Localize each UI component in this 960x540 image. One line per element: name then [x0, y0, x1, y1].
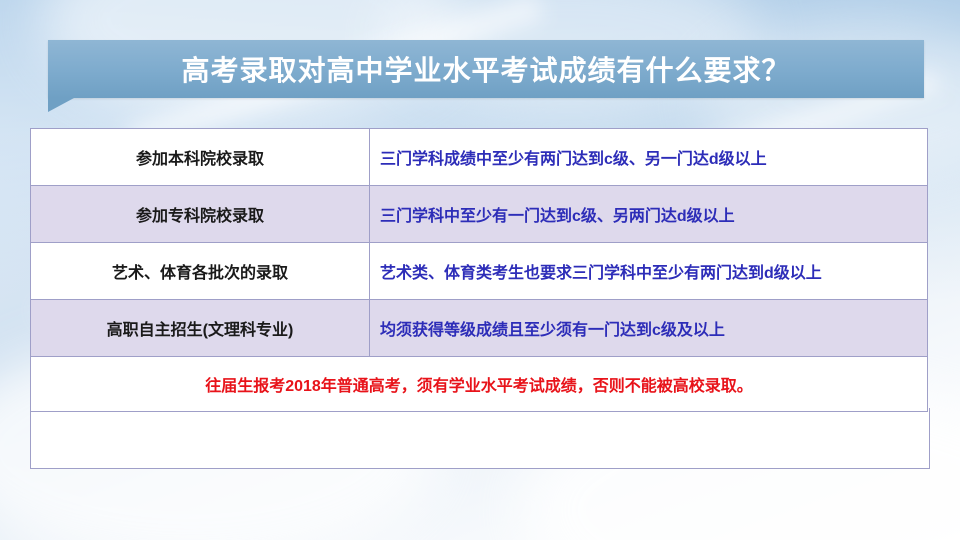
requirements-table: 参加本科院校录取 三门学科成绩中至少有两门达到c级、另一门达d级以上 参加专科院…: [30, 128, 928, 412]
row-requirement: 艺术类、体育类考生也要求三门学科中至少有两门达到d级以上: [370, 243, 928, 300]
slide-title: 高考录取对高中学业水平考试成绩有什么要求？: [48, 40, 924, 98]
table-row: 参加专科院校录取 三门学科中至少有一门达到c级、另两门达d级以上: [31, 186, 928, 243]
table-note-row: 往届生报考2018年普通高考，须有学业水平考试成绩，否则不能被高校录取。: [31, 357, 928, 412]
title-banner-tail: [48, 98, 74, 112]
table-row: 参加本科院校录取 三门学科成绩中至少有两门达到c级、另一门达d级以上: [31, 129, 928, 186]
table-row: 高职自主招生(文理科专业) 均须获得等级成绩且至少须有一门达到c级及以上: [31, 300, 928, 357]
table-row: 艺术、体育各批次的录取 艺术类、体育类考生也要求三门学科中至少有两门达到d级以上: [31, 243, 928, 300]
table-note: 往届生报考2018年普通高考，须有学业水平考试成绩，否则不能被高校录取。: [31, 357, 928, 412]
title-banner: 高考录取对高中学业水平考试成绩有什么要求？: [48, 40, 924, 98]
row-category: 参加专科院校录取: [31, 186, 370, 243]
row-category: 参加本科院校录取: [31, 129, 370, 186]
row-category: 高职自主招生(文理科专业): [31, 300, 370, 357]
slide-canvas: 高考录取对高中学业水平考试成绩有什么要求？ 参加本科院校录取 三门学科成绩中至少…: [0, 0, 960, 540]
table-lower-band: [30, 408, 930, 469]
row-category: 艺术、体育各批次的录取: [31, 243, 370, 300]
row-requirement: 三门学科中至少有一门达到c级、另两门达d级以上: [370, 186, 928, 243]
row-requirement: 三门学科成绩中至少有两门达到c级、另一门达d级以上: [370, 129, 928, 186]
row-requirement: 均须获得等级成绩且至少须有一门达到c级及以上: [370, 300, 928, 357]
requirements-table-wrapper: 参加本科院校录取 三门学科成绩中至少有两门达到c级、另一门达d级以上 参加专科院…: [30, 128, 928, 412]
